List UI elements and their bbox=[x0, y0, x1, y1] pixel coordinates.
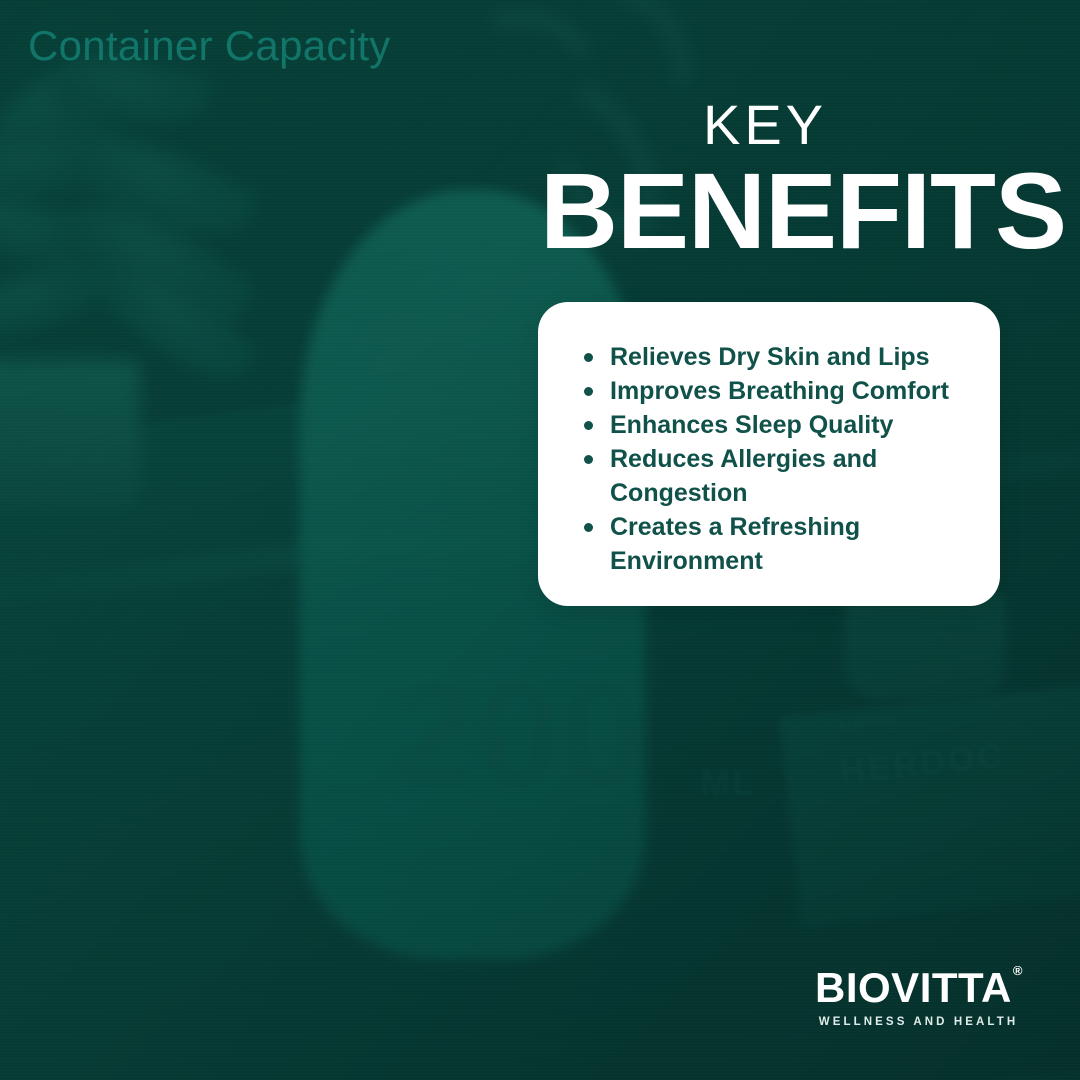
registered-trademark-icon: ® bbox=[1013, 963, 1023, 978]
key-benefits-poster: 200 ML Aromatic HERDOC Container Capacit… bbox=[0, 0, 1080, 1080]
list-item: Enhances Sleep Quality bbox=[580, 408, 966, 442]
brand-tagline: WELLNESS AND HEALTH bbox=[815, 1016, 1022, 1028]
title-line-benefits: BENEFITS bbox=[540, 157, 990, 265]
brand-logo: BIOVITTA® WELLNESS AND HEALTH bbox=[815, 967, 1022, 1028]
list-item: Relieves Dry Skin and Lips bbox=[580, 340, 966, 374]
benefits-card: Relieves Dry Skin and Lips Improves Brea… bbox=[538, 302, 1000, 606]
list-item: Creates a Refreshing Environment bbox=[580, 510, 966, 578]
container-capacity-watermark: Container Capacity bbox=[28, 22, 391, 70]
brand-name: BIOVITTA® bbox=[815, 967, 1022, 1009]
list-item: Improves Breathing Comfort bbox=[580, 374, 966, 408]
benefits-list: Relieves Dry Skin and Lips Improves Brea… bbox=[580, 340, 966, 578]
brand-name-text: BIOVITTA bbox=[815, 964, 1012, 1011]
title-line-key: KEY bbox=[540, 96, 990, 155]
list-item: Reduces Allergies and Congestion bbox=[580, 442, 966, 510]
page-title: KEY BENEFITS bbox=[540, 96, 990, 265]
